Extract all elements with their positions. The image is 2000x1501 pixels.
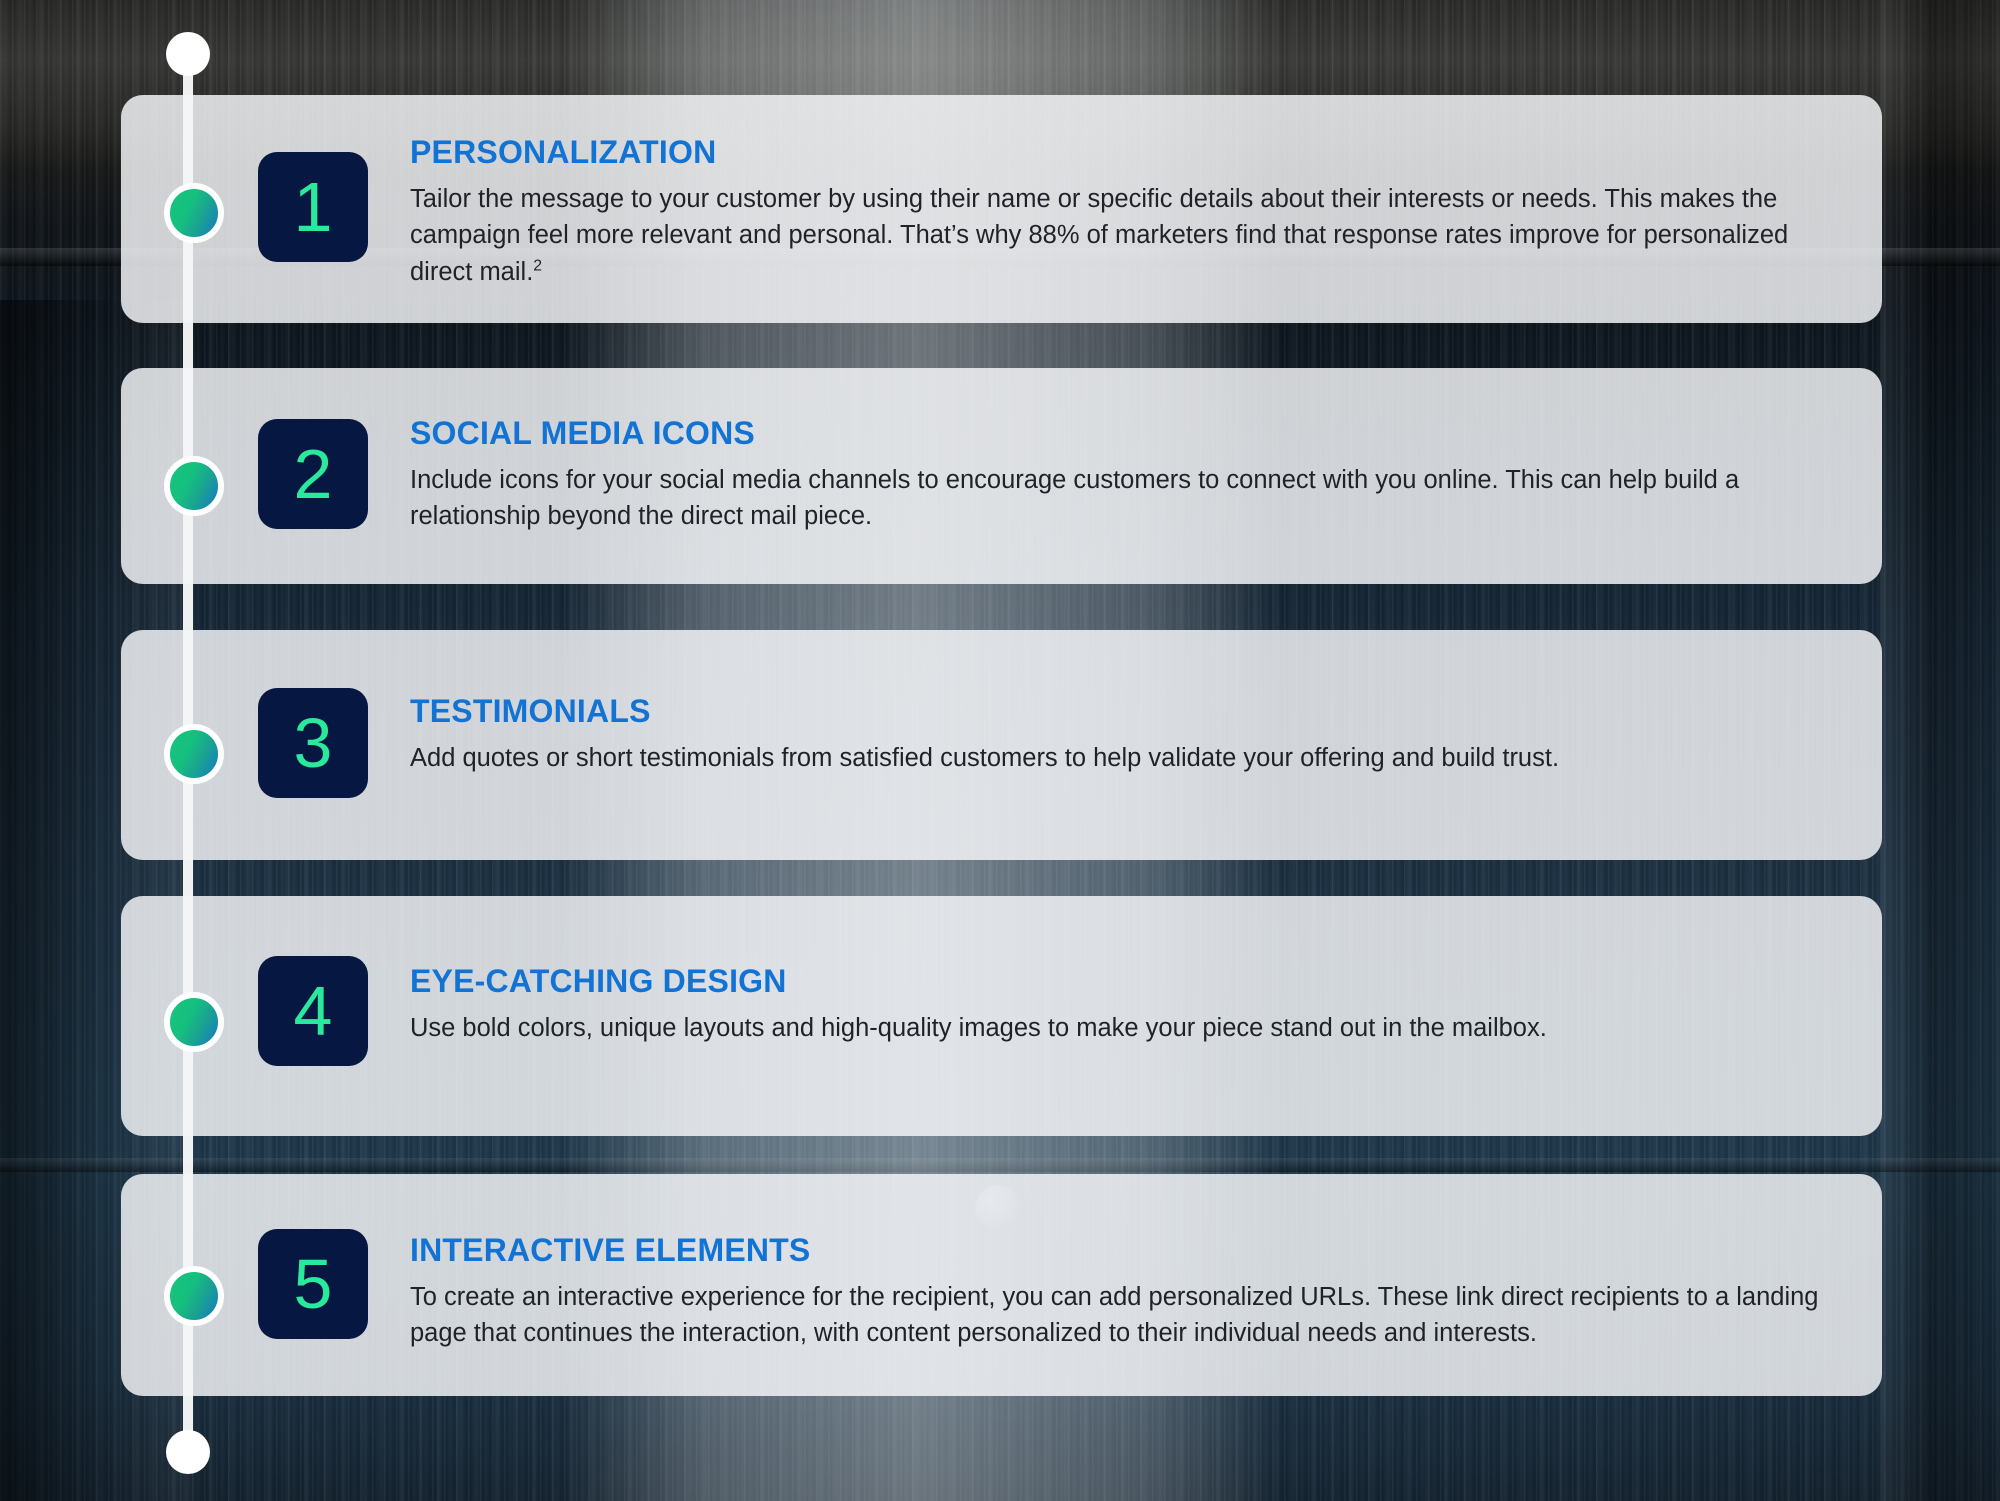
timeline-bullet-icon bbox=[164, 456, 224, 516]
timeline-bullet-icon bbox=[164, 1266, 224, 1326]
step-description-text: Use bold colors, unique layouts and high… bbox=[410, 1014, 1547, 1042]
step-description: To create an interactive experience for … bbox=[410, 1279, 1840, 1352]
step-number: 1 bbox=[294, 172, 333, 242]
footnote-marker: 2 bbox=[533, 258, 542, 275]
step-content: SOCIAL MEDIA ICONS Include icons for you… bbox=[410, 417, 1850, 535]
step-number-badge: 3 bbox=[258, 688, 368, 798]
step-description: Add quotes or short testimonials from sa… bbox=[410, 740, 1840, 777]
step-number: 4 bbox=[294, 976, 333, 1046]
step-description-text: Include icons for your social media chan… bbox=[410, 466, 1739, 531]
step-heading: INTERACTIVE ELEMENTS bbox=[410, 1234, 1850, 1268]
step-description: Use bold colors, unique layouts and high… bbox=[410, 1010, 1840, 1047]
timeline-bullet-icon bbox=[164, 992, 224, 1052]
timeline-step-list: 1 2 3 4 5 PERSONALIZATION Tailor the mes… bbox=[0, 0, 2000, 1501]
step-heading: SOCIAL MEDIA ICONS bbox=[410, 417, 1850, 451]
step-number: 5 bbox=[294, 1249, 333, 1319]
step-content: INTERACTIVE ELEMENTS To create an intera… bbox=[410, 1234, 1850, 1352]
step-number-badge: 2 bbox=[258, 419, 368, 529]
timeline-bullet-icon bbox=[164, 183, 224, 243]
timeline-end-dot-icon bbox=[166, 1430, 210, 1474]
step-number-badge: 1 bbox=[258, 152, 368, 262]
step-heading: TESTIMONIALS bbox=[410, 695, 1850, 729]
infographic-stage: 1 2 3 4 5 PERSONALIZATION Tailor the mes… bbox=[0, 0, 2000, 1501]
step-content: EYE-CATCHING DESIGN Use bold colors, uni… bbox=[410, 965, 1850, 1046]
step-number: 3 bbox=[294, 708, 333, 778]
step-description: Tailor the message to your customer by u… bbox=[410, 181, 1840, 291]
step-number: 2 bbox=[294, 439, 333, 509]
step-description-text: Add quotes or short testimonials from sa… bbox=[410, 744, 1559, 772]
step-description-text: Tailor the message to your customer by u… bbox=[410, 185, 1788, 286]
step-content: PERSONALIZATION Tailor the message to yo… bbox=[410, 136, 1850, 291]
step-description-text: To create an interactive experience for … bbox=[410, 1283, 1819, 1348]
step-heading: EYE-CATCHING DESIGN bbox=[410, 965, 1850, 999]
timeline-start-dot-icon bbox=[166, 32, 210, 76]
step-description: Include icons for your social media chan… bbox=[410, 462, 1840, 535]
step-number-badge: 4 bbox=[258, 956, 368, 1066]
step-number-badge: 5 bbox=[258, 1229, 368, 1339]
step-content: TESTIMONIALS Add quotes or short testimo… bbox=[410, 695, 1850, 776]
timeline-bullet-icon bbox=[164, 724, 224, 784]
step-heading: PERSONALIZATION bbox=[410, 136, 1850, 170]
